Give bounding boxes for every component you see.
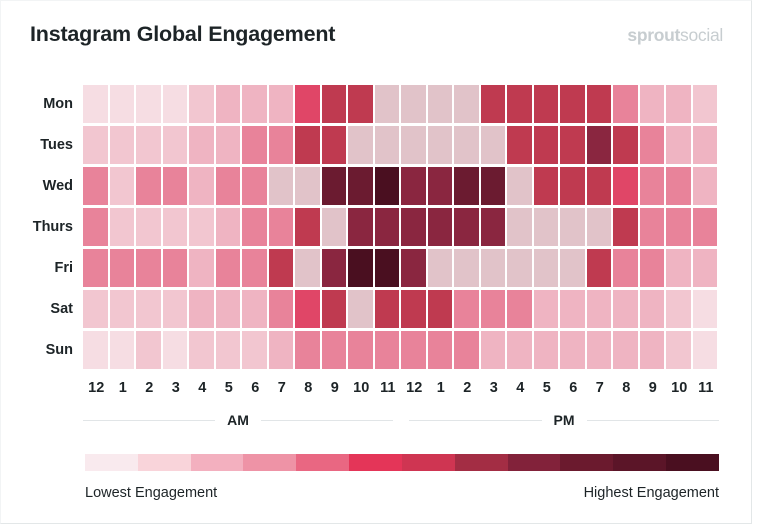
heatmap-cell[interactable] (693, 208, 718, 246)
heatmap-cell[interactable] (454, 249, 479, 287)
heatmap-cell[interactable] (163, 249, 188, 287)
legend-colorbar (85, 454, 719, 471)
heatmap-cell[interactable] (640, 331, 665, 369)
heatmap-cell[interactable] (587, 126, 612, 164)
heatmap-cell[interactable] (136, 249, 161, 287)
heatmap-cell[interactable] (666, 208, 691, 246)
heatmap-cell[interactable] (428, 249, 453, 287)
heatmap-cell[interactable] (83, 85, 108, 123)
heatmap-cell[interactable] (110, 208, 135, 246)
heatmap-cell[interactable] (560, 331, 585, 369)
heatmap-cell[interactable] (481, 126, 506, 164)
heatmap-cell[interactable] (640, 290, 665, 328)
brand-social-text: social (680, 25, 723, 45)
period-label-pm: PM (542, 410, 587, 430)
heatmap-cell[interactable] (640, 126, 665, 164)
heatmap-cell[interactable] (295, 249, 320, 287)
y-axis-label-thurs: Thurs (1, 208, 73, 246)
heatmap-cell[interactable] (110, 126, 135, 164)
heatmap-cell[interactable] (666, 290, 691, 328)
legend-labels: Lowest Engagement Highest Engagement (85, 485, 719, 505)
heatmap-cell[interactable] (640, 167, 665, 205)
heatmap-cell[interactable] (375, 126, 400, 164)
sproutsocial-logo: sproutsocial (627, 25, 723, 46)
heatmap-cell[interactable] (375, 290, 400, 328)
heatmap-cell[interactable] (322, 331, 347, 369)
heatmap-cell[interactable] (401, 249, 426, 287)
heatmap-cell[interactable] (401, 126, 426, 164)
heatmap-cell[interactable] (295, 126, 320, 164)
heatmap-cell[interactable] (507, 208, 532, 246)
heatmap-cell[interactable] (163, 85, 188, 123)
heatmap-cell[interactable] (295, 290, 320, 328)
legend-swatch (191, 454, 244, 471)
heatmap-cell[interactable] (507, 85, 532, 123)
legend-swatch (455, 454, 508, 471)
heatmap-cell[interactable] (136, 126, 161, 164)
period-group-pm: PM (409, 410, 719, 430)
heatmap-cell[interactable] (348, 290, 373, 328)
heatmap-cell[interactable] (534, 126, 559, 164)
heatmap-cell[interactable] (269, 126, 294, 164)
heatmap-cell[interactable] (401, 85, 426, 123)
heatmap-cell[interactable] (189, 249, 214, 287)
heatmap-cell[interactable] (507, 167, 532, 205)
x-axis-label-hour: 11 (693, 378, 720, 398)
heatmap-cell[interactable] (136, 331, 161, 369)
heatmap-cell[interactable] (242, 167, 267, 205)
y-axis-label-sat: Sat (1, 290, 73, 328)
heatmap-cell[interactable] (136, 85, 161, 123)
heatmap-cell[interactable] (110, 167, 135, 205)
heatmap-cell[interactable] (693, 85, 718, 123)
x-axis-label-hour: 5 (216, 378, 243, 398)
heatmap-cell[interactable] (613, 208, 638, 246)
heatmap-cell[interactable] (189, 290, 214, 328)
heatmap-row (83, 167, 719, 205)
x-axis-label-hour: 6 (242, 378, 269, 398)
heatmap-cell[interactable] (216, 167, 241, 205)
legend-swatch (243, 454, 296, 471)
x-axis-label-hour: 5 (534, 378, 561, 398)
heatmap-cell[interactable] (295, 85, 320, 123)
heatmap-cell[interactable] (322, 249, 347, 287)
heatmap-cell[interactable] (693, 290, 718, 328)
x-axis-label-hour: 11 (375, 378, 402, 398)
heatmap-cell[interactable] (560, 126, 585, 164)
heatmap-cell[interactable] (587, 167, 612, 205)
heatmap-cell[interactable] (666, 249, 691, 287)
heatmap-cell[interactable] (375, 208, 400, 246)
heatmap-cell[interactable] (163, 167, 188, 205)
x-axis-label-hour: 2 (454, 378, 481, 398)
heatmap-cell[interactable] (401, 167, 426, 205)
heatmap-cell[interactable] (348, 249, 373, 287)
heatmap-cell[interactable] (269, 249, 294, 287)
heatmap-cell[interactable] (322, 290, 347, 328)
heatmap-cell[interactable] (507, 290, 532, 328)
heatmap-cell[interactable] (534, 249, 559, 287)
heatmap-cell[interactable] (507, 249, 532, 287)
x-axis-label-hour: 2 (136, 378, 163, 398)
heatmap-row (83, 331, 719, 369)
heatmap-cell[interactable] (481, 290, 506, 328)
heatmap-row (83, 290, 719, 328)
heatmap-cell[interactable] (666, 167, 691, 205)
y-axis-label-tues: Tues (1, 126, 73, 164)
x-axis-label-hour: 1 (428, 378, 455, 398)
heatmap-cell[interactable] (375, 167, 400, 205)
legend-lowest-label: Lowest Engagement (85, 485, 217, 501)
heatmap-cell[interactable] (454, 167, 479, 205)
heatmap-cell[interactable] (428, 331, 453, 369)
legend-swatch (508, 454, 561, 471)
heatmap-cell[interactable] (322, 85, 347, 123)
x-axis-label-hour: 10 (348, 378, 375, 398)
heatmap-cell[interactable] (322, 208, 347, 246)
heatmap-cell[interactable] (454, 331, 479, 369)
x-axis-label-hour: 6 (560, 378, 587, 398)
heatmap-cell[interactable] (507, 126, 532, 164)
heatmap-cell[interactable] (216, 85, 241, 123)
heatmap-cell[interactable] (216, 290, 241, 328)
x-axis-label-hour: 1 (110, 378, 137, 398)
x-axis-label-hour: 7 (269, 378, 296, 398)
heatmap-cell[interactable] (375, 85, 400, 123)
y-axis-day-labels: MonTuesWedThursFriSatSun (1, 85, 73, 372)
heatmap-cell[interactable] (587, 290, 612, 328)
heatmap-cell[interactable] (242, 249, 267, 287)
period-line-left (409, 420, 542, 421)
heatmap-cell[interactable] (269, 331, 294, 369)
y-axis-label-fri: Fri (1, 249, 73, 287)
x-axis-label-hour: 12 (83, 378, 110, 398)
y-axis-label-mon: Mon (1, 85, 73, 123)
heatmap-cell[interactable] (242, 290, 267, 328)
heatmap-cell[interactable] (534, 167, 559, 205)
heatmap-cell[interactable] (375, 249, 400, 287)
heatmap-cell[interactable] (401, 208, 426, 246)
heatmap-cell[interactable] (110, 331, 135, 369)
heatmap-cell[interactable] (136, 290, 161, 328)
x-axis-period-labels: AM PM (83, 410, 719, 430)
heatmap-cell[interactable] (348, 331, 373, 369)
heatmap-cell[interactable] (269, 208, 294, 246)
heatmap-cell[interactable] (666, 85, 691, 123)
legend-swatch (666, 454, 719, 471)
heatmap-cell[interactable] (481, 85, 506, 123)
heatmap-cell[interactable] (534, 331, 559, 369)
heatmap-cell[interactable] (242, 331, 267, 369)
heatmap-cell[interactable] (560, 167, 585, 205)
heatmap-cell[interactable] (83, 249, 108, 287)
heatmap-cell[interactable] (295, 331, 320, 369)
y-axis-label-sun: Sun (1, 331, 73, 369)
heatmap-cell[interactable] (348, 167, 373, 205)
heatmap-cell[interactable] (216, 331, 241, 369)
heatmap-cell[interactable] (534, 208, 559, 246)
legend-swatch (560, 454, 613, 471)
heatmap-cell[interactable] (216, 126, 241, 164)
heatmap-cell[interactable] (83, 126, 108, 164)
x-axis-label-hour: 3 (481, 378, 508, 398)
legend-swatch (402, 454, 455, 471)
heatmap-cell[interactable] (428, 126, 453, 164)
heatmap-cell[interactable] (163, 126, 188, 164)
y-axis-label-wed: Wed (1, 167, 73, 205)
heatmap-cell[interactable] (481, 331, 506, 369)
legend-swatch (296, 454, 349, 471)
heatmap-cell[interactable] (613, 331, 638, 369)
heatmap-cell[interactable] (348, 126, 373, 164)
heatmap-cell[interactable] (136, 167, 161, 205)
heatmap-cell[interactable] (666, 126, 691, 164)
legend-swatch (85, 454, 138, 471)
heatmap-cell[interactable] (560, 85, 585, 123)
heatmap-cell[interactable] (560, 208, 585, 246)
heatmap-row (83, 85, 719, 123)
heatmap-cell[interactable] (348, 85, 373, 123)
heatmap-cell[interactable] (560, 249, 585, 287)
legend-swatch (613, 454, 666, 471)
brand-sprout-text: sprout (627, 25, 680, 45)
heatmap-cell[interactable] (613, 85, 638, 123)
heatmap-cell[interactable] (534, 85, 559, 123)
heatmap-cell[interactable] (454, 126, 479, 164)
heatmap-cell[interactable] (454, 208, 479, 246)
period-group-am: AM (83, 410, 393, 430)
period-label-am: AM (215, 410, 261, 430)
heatmap-cell[interactable] (216, 208, 241, 246)
heatmap-cell[interactable] (83, 331, 108, 369)
heatmap-cell[interactable] (110, 85, 135, 123)
page-title: Instagram Global Engagement (30, 22, 335, 47)
heatmap-cell[interactable] (401, 290, 426, 328)
heatmap-cell[interactable] (189, 85, 214, 123)
chart-header: Instagram Global Engagement sproutsocial (1, 1, 752, 73)
heatmap-cell[interactable] (454, 290, 479, 328)
chart-card: Instagram Global Engagement sproutsocial… (0, 0, 752, 524)
period-line-left (83, 420, 215, 421)
heatmap-row (83, 126, 719, 164)
heatmap-cell[interactable] (428, 290, 453, 328)
heatmap-cell[interactable] (613, 167, 638, 205)
heatmap-cell[interactable] (189, 331, 214, 369)
heatmap-cell[interactable] (666, 331, 691, 369)
heatmap-cell[interactable] (295, 208, 320, 246)
heatmap-cell[interactable] (613, 126, 638, 164)
heatmap-cell[interactable] (428, 208, 453, 246)
heatmap-cell[interactable] (269, 85, 294, 123)
x-axis-label-hour: 9 (322, 378, 349, 398)
heatmap-cell[interactable] (269, 290, 294, 328)
heatmap-cell[interactable] (507, 331, 532, 369)
heatmap-cell[interactable] (587, 85, 612, 123)
heatmap-cell[interactable] (587, 249, 612, 287)
heatmap-cell[interactable] (163, 208, 188, 246)
heatmap-cell[interactable] (640, 85, 665, 123)
heatmap-cell[interactable] (640, 249, 665, 287)
legend-swatch (138, 454, 191, 471)
period-line-right (261, 420, 393, 421)
heatmap-cell[interactable] (560, 290, 585, 328)
heatmap-cell[interactable] (110, 249, 135, 287)
heatmap-cell[interactable] (640, 208, 665, 246)
x-axis-label-hour: 8 (613, 378, 640, 398)
heatmap-cell[interactable] (401, 331, 426, 369)
period-line-right (587, 420, 720, 421)
heatmap-cell[interactable] (534, 290, 559, 328)
x-axis-label-hour: 10 (666, 378, 693, 398)
heatmap-cell[interactable] (693, 167, 718, 205)
heatmap-cell[interactable] (587, 331, 612, 369)
heatmap-cell[interactable] (481, 249, 506, 287)
heatmap-cell[interactable] (481, 208, 506, 246)
x-axis-label-hour: 3 (163, 378, 190, 398)
heatmap-cell[interactable] (295, 167, 320, 205)
heatmap-row (83, 249, 719, 287)
heatmap-cell[interactable] (189, 126, 214, 164)
heatmap-cell[interactable] (242, 85, 267, 123)
heatmap-cell[interactable] (242, 208, 267, 246)
heatmap-cell[interactable] (348, 208, 373, 246)
x-axis-label-hour: 4 (189, 378, 216, 398)
heatmap-cell[interactable] (693, 331, 718, 369)
heatmap-cell[interactable] (454, 85, 479, 123)
heatmap-cell[interactable] (613, 249, 638, 287)
heatmap-cell[interactable] (163, 331, 188, 369)
heatmap-cell[interactable] (216, 249, 241, 287)
heatmap-cell[interactable] (163, 290, 188, 328)
heatmap-cell[interactable] (428, 167, 453, 205)
heatmap-cell[interactable] (83, 290, 108, 328)
legend-swatch (349, 454, 402, 471)
heatmap-row (83, 208, 719, 246)
heatmap-cell[interactable] (83, 167, 108, 205)
heatmap-cell[interactable] (189, 167, 214, 205)
heatmap-cell[interactable] (322, 167, 347, 205)
heatmap-cell[interactable] (242, 126, 267, 164)
x-axis-hour-labels: 121234567891011121234567891011 (83, 378, 719, 400)
heatmap-cell[interactable] (481, 167, 506, 205)
heatmap-cell[interactable] (189, 208, 214, 246)
x-axis-label-hour: 9 (640, 378, 667, 398)
x-axis-label-hour: 8 (295, 378, 322, 398)
heatmap-cell[interactable] (375, 331, 400, 369)
heatmap-grid (83, 85, 719, 372)
heatmap-cell[interactable] (136, 208, 161, 246)
heatmap-cell[interactable] (83, 208, 108, 246)
x-axis-label-hour: 7 (587, 378, 614, 398)
heatmap-cell[interactable] (613, 290, 638, 328)
heatmap-cell[interactable] (110, 290, 135, 328)
x-axis-label-hour: 12 (401, 378, 428, 398)
heatmap-cell[interactable] (693, 249, 718, 287)
heatmap-cell[interactable] (322, 126, 347, 164)
heatmap-cell[interactable] (269, 167, 294, 205)
legend-highest-label: Highest Engagement (584, 485, 719, 501)
x-axis-label-hour: 4 (507, 378, 534, 398)
heatmap-cell[interactable] (693, 126, 718, 164)
heatmap-cell[interactable] (587, 208, 612, 246)
heatmap-cell[interactable] (428, 85, 453, 123)
